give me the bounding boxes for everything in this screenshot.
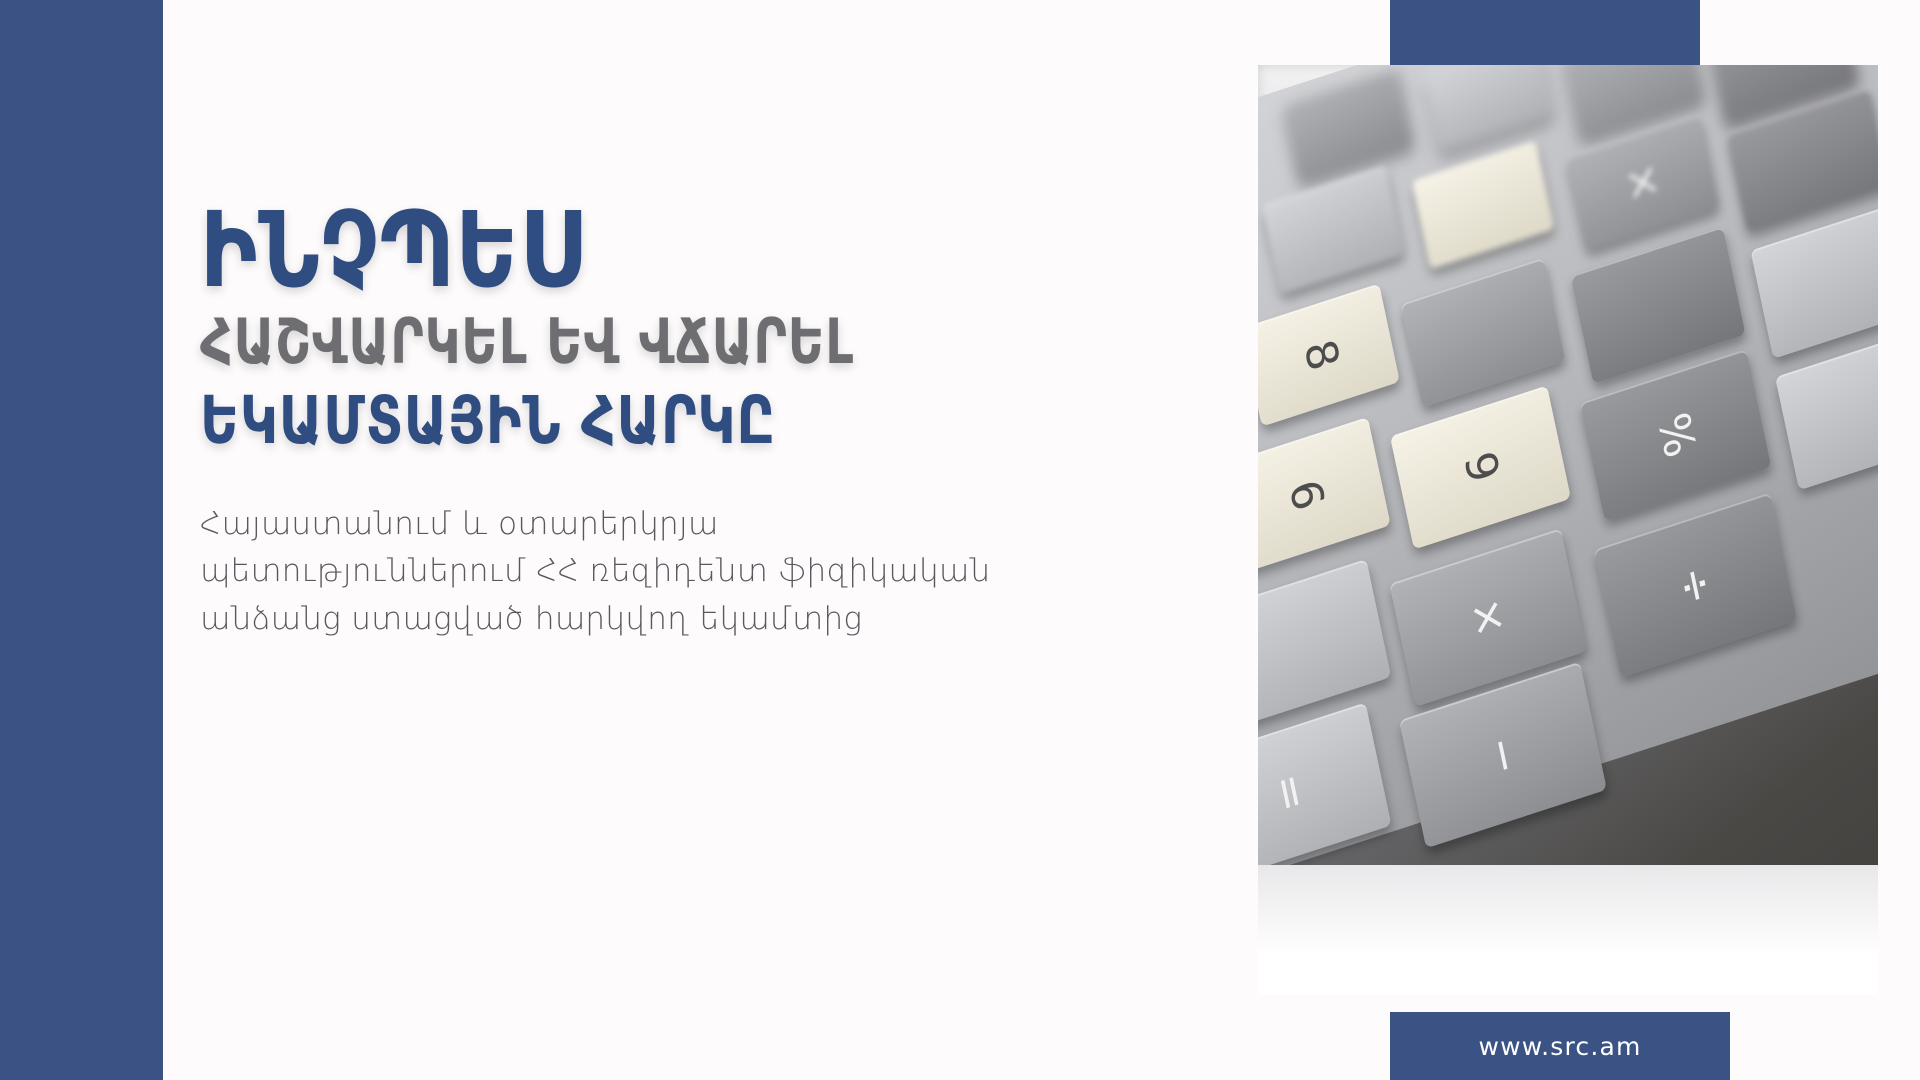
- calculator-key-label: ÷: [1667, 559, 1723, 611]
- body-line-3: անձանց ստացված հարկվող եկամտից: [200, 596, 1060, 643]
- body-line-1: Հայաստանում և օտարերկրյա: [200, 501, 1060, 548]
- calculator-key-label: −: [1475, 729, 1531, 781]
- left-gap-strip: [163, 0, 177, 1080]
- photo-background-bottom: [1258, 865, 1878, 995]
- headline-line-1: ԻՆՉՊԵՍ: [200, 200, 991, 302]
- calculator-key-label: ×: [1460, 591, 1516, 643]
- footer-url-text[interactable]: www.src.am: [1478, 1032, 1641, 1061]
- text-column: ԻՆՉՊԵՍ ՀԱՇՎԱՐԿԵԼ ԵՎ ՎՃԱՐԵԼ ԵԿԱՄՏԱՅԻՆ ՀԱՐ…: [200, 200, 1060, 643]
- calculator-key-label: %: [1647, 407, 1704, 464]
- calculator-key-label: 9: [1453, 446, 1507, 489]
- top-right-accent-block: [1390, 0, 1700, 65]
- headline-line-3: ԵԿԱՄՏԱՅԻՆ ՀԱՐԿԸ: [200, 389, 974, 454]
- calculator-key-label: 6: [1278, 473, 1332, 516]
- headline-line-2: ՀԱՇՎԱՐԿԵԼ ԵՎ ՎՃԱՐԵԼ: [200, 312, 974, 373]
- body-line-2: պետություններում ՀՀ ռեզիդենտ ֆիզիկական: [200, 548, 1060, 595]
- slide-canvas: × 8 6 9 % × ÷ = − ԻՆՉՊԵՍ ՀԱՇՎԱՐԿԵԼ ԵՎ ՎՃ…: [0, 0, 1920, 1080]
- footer-url-band: www.src.am: [1390, 1012, 1730, 1080]
- left-accent-bar: [0, 0, 163, 1080]
- calculator-photo: × 8 6 9 % × ÷ = −: [1258, 65, 1878, 995]
- calculator-key-label: =: [1262, 766, 1318, 818]
- calculator-photo-inner: × 8 6 9 % × ÷ = −: [1258, 65, 1878, 995]
- calculator-key-label: 8: [1293, 333, 1347, 376]
- calculator-key-label: ×: [1615, 156, 1671, 208]
- body-paragraph: Հայաստանում և օտարերկրյա պետություններու…: [200, 501, 1060, 642]
